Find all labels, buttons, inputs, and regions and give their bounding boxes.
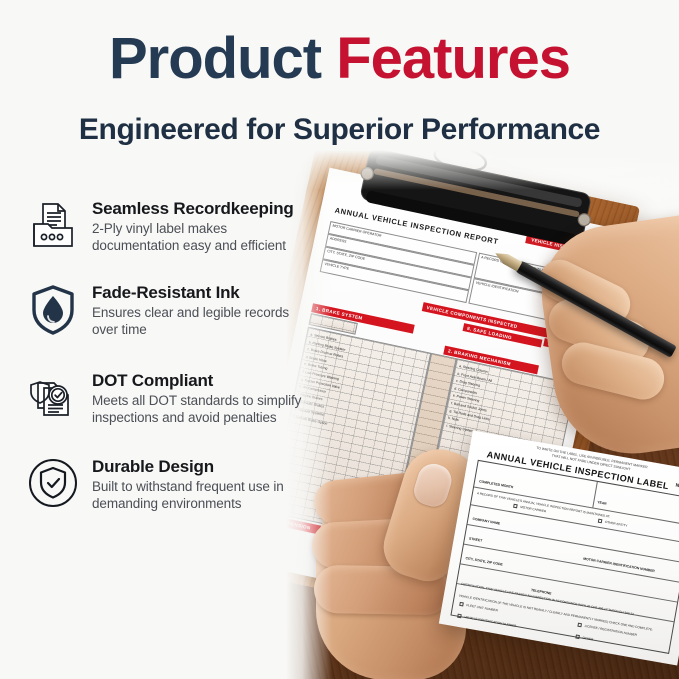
feature-body: Fade-Resistant Ink Ensures clear and leg… (84, 280, 289, 338)
feature-body: Durable Design Built to withstand freque… (84, 454, 284, 512)
feature-item-durable-design: Durable Design Built to withstand freque… (22, 454, 332, 516)
feature-body: DOT Compliant Meets all DOT standards to… (84, 368, 301, 426)
label-field-company: COMPANY NAME (472, 517, 500, 526)
feature-desc-line1: Ensures clear and legible records (92, 305, 289, 320)
label-checkbox-other-text: OTHER (582, 636, 593, 642)
feature-body: Seamless Recordkeeping 2-Ply vinyl label… (84, 196, 294, 254)
label-checkbox-fleet-unit-text: FLEET UNIT NUMBER (466, 603, 498, 612)
feature-title: Durable Design (92, 456, 284, 477)
feature-desc-line2: over time (92, 322, 147, 337)
feature-item-fade-resistant-ink: Fade-Resistant Ink Ensures clear and leg… (22, 280, 332, 342)
label-card-no: NO. (675, 483, 679, 490)
page-title-part2: Features (336, 26, 570, 91)
feature-title: Seamless Recordkeeping (92, 198, 294, 219)
feature-item-seamless-recordkeeping: Seamless Recordkeeping 2-Ply vinyl label… (22, 196, 332, 258)
label-checkbox-other-entity (598, 519, 603, 524)
page-title: Product Features (0, 26, 679, 92)
feature-title: DOT Compliant (92, 370, 301, 391)
feature-desc-line2: documentation easy and efficient (92, 238, 286, 253)
document-check-shield-icon (22, 368, 84, 430)
page-subtitle: Engineered for Superior Performance (0, 113, 679, 147)
feature-title: Fade-Resistant Ink (92, 282, 289, 303)
label-checkbox-other (575, 634, 580, 639)
feature-list: Seamless Recordkeeping 2-Ply vinyl label… (22, 196, 332, 538)
feature-desc: 2-Ply vinyl label makes documentation ea… (92, 220, 294, 254)
documents-into-file-box-icon (22, 196, 84, 258)
label-field-street: STREET (469, 536, 483, 542)
feature-desc-line1: Built to withstand frequent use in (92, 479, 284, 494)
label-field-year: YEAR (597, 500, 607, 506)
hand-with-pen (503, 198, 679, 448)
product-features-page: BUCK U.S ANNUAL VEHICLE INSPECTION REPOR… (0, 0, 679, 679)
shield-with-ink-droplet-icon (22, 280, 84, 342)
feature-desc-line1: Meets all DOT standards to simplify (92, 393, 301, 408)
feature-desc-line2: demanding environments (92, 496, 241, 511)
feature-desc-line2: inspections and avoid penalties (92, 410, 277, 425)
label-checkbox-vin (457, 614, 462, 619)
feature-desc: Meets all DOT standards to simplify insp… (92, 392, 301, 426)
label-card-body: COMPLETED MONTH YEAR A RECORD OF THIS VE… (450, 460, 679, 654)
label-checkbox-other-entity-text: OTHER ENTITY (605, 520, 628, 528)
label-checkbox-motor-carrier (513, 504, 518, 509)
label-record-line: A RECORD OF THIS VEHICLE'S ANNUAL VEHICL… (477, 491, 611, 518)
page-title-part1: Product (109, 26, 321, 91)
product-photograph: BUCK U.S ANNUAL VEHICLE INSPECTION REPOR… (286, 150, 679, 679)
shield-check-circle-icon (22, 454, 84, 516)
label-checkbox-fleet-unit (459, 602, 464, 607)
label-checkbox-vin-text: VEHICLE IDENTIFICATION NUMBER (464, 615, 517, 628)
feature-item-dot-compliant: DOT Compliant Meets all DOT standards to… (22, 368, 332, 430)
feature-desc: Ensures clear and legible records over t… (92, 304, 289, 338)
label-checkbox-license (577, 623, 582, 628)
feature-desc: Built to withstand frequent use in deman… (92, 478, 284, 512)
feature-desc-line1: 2-Ply vinyl label makes (92, 221, 227, 236)
